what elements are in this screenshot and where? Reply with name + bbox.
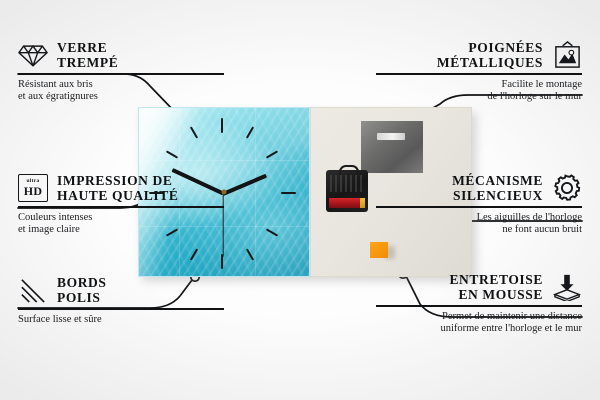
feature-title: MÉCANISME SILENCIEUX [452, 173, 543, 203]
feature-description: Permet de maintenir une distance uniform… [376, 311, 582, 336]
feature-verre-trempe: VERRE TREMPÉ Résistant aux bris et aux é… [18, 40, 224, 104]
feature-title: POIGNÉES MÉTALLIQUES [437, 40, 543, 70]
foam-spacer-icon [552, 272, 582, 302]
mechanism-hook [339, 165, 359, 175]
feature-header: ENTRETOISE EN MOUSSE [376, 272, 582, 302]
feature-rule [376, 73, 582, 75]
gear-icon [552, 173, 582, 203]
feature-title: IMPRESSION DE HAUTE QUALITÉ [57, 173, 178, 203]
feature-description: Surface lisse et sûre [18, 314, 224, 327]
hanging-frame-icon [552, 40, 582, 70]
feature-bords-polis: BORDS POLIS Surface lisse et sûre [18, 275, 224, 326]
diamond-icon [18, 40, 48, 70]
ultra-hd-icon: ultra HD [18, 173, 48, 203]
feature-rule [18, 73, 224, 75]
feature-title: BORDS POLIS [57, 275, 107, 305]
hour-marker [281, 192, 296, 194]
feature-title: ENTRETOISE EN MOUSSE [449, 272, 543, 302]
battery [329, 198, 365, 208]
feature-header: MÉCANISME SILENCIEUX [376, 173, 582, 203]
feature-title: VERRE TREMPÉ [57, 40, 118, 70]
feature-impression-haute-qualite: ultra HD IMPRESSION DE HAUTE QUALITÉ Cou… [18, 173, 224, 237]
feature-header: POIGNÉES MÉTALLIQUES [376, 40, 582, 70]
bracket-slot [377, 133, 405, 140]
feature-poignees-metalliques: POIGNÉES MÉTALLIQUES Facilite le montage… [376, 40, 582, 104]
battery-terminal [360, 198, 365, 208]
feature-entretoise-en-mousse: ENTRETOISE EN MOUSSE Permet de maintenir… [376, 272, 582, 336]
feature-header: BORDS POLIS [18, 275, 224, 305]
feature-header: ultra HD IMPRESSION DE HAUTE QUALITÉ [18, 173, 224, 203]
hour-marker [221, 118, 223, 133]
clock-mechanism [326, 170, 368, 212]
feature-description: Facilite le montage de l'horloge sur le … [376, 79, 582, 104]
foam-spacer [370, 242, 388, 258]
feature-rule [376, 206, 582, 208]
feature-rule [376, 305, 582, 307]
feature-mecanisme-silencieux: MÉCANISME SILENCIEUX Les aiguilles de l'… [376, 173, 582, 237]
mechanism-label-print [330, 175, 364, 192]
feature-description: Couleurs intenses et image claire [18, 212, 224, 237]
feature-header: VERRE TREMPÉ [18, 40, 224, 70]
feature-rule [18, 206, 224, 208]
metal-bracket [361, 121, 423, 173]
feature-description: Les aiguilles de l'horloge ne font aucun… [376, 212, 582, 237]
polished-edge-icon [18, 275, 48, 305]
product-infographic: VERRE TREMPÉ Résistant aux bris et aux é… [0, 0, 600, 400]
feature-rule [18, 308, 224, 310]
feature-description: Résistant aux bris et aux égratignures [18, 79, 224, 104]
